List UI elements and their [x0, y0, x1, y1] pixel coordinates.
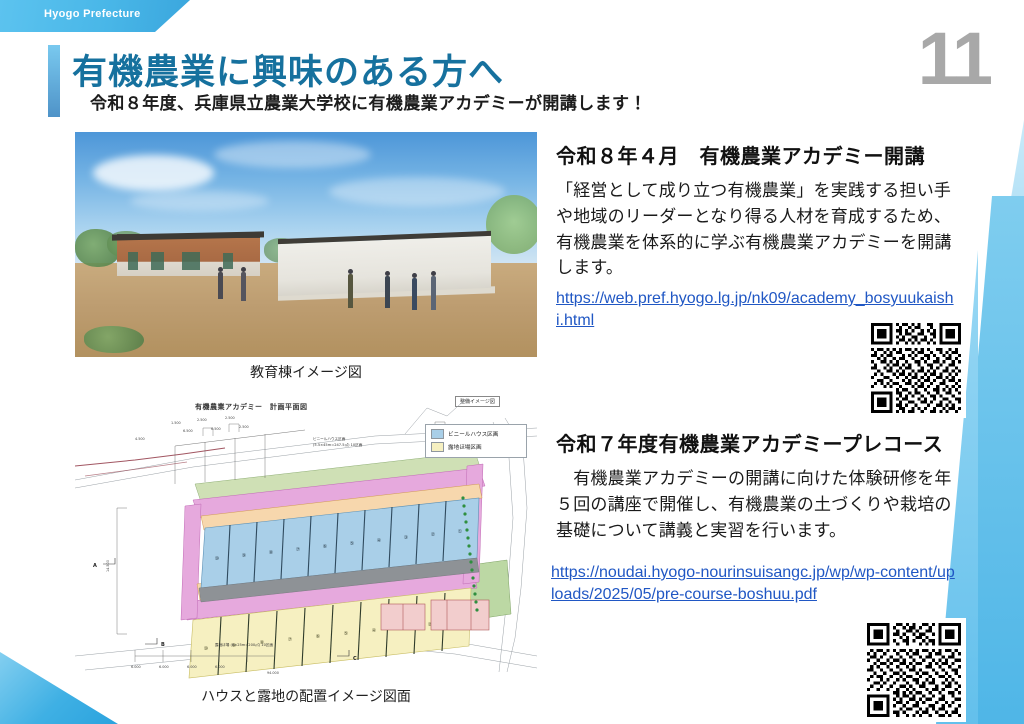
svg-text:B: B	[161, 642, 165, 648]
svg-text:6.000: 6.000	[159, 665, 169, 669]
svg-text:⑤: ⑤	[350, 541, 354, 547]
svg-text:③: ③	[404, 535, 408, 541]
photo-person	[412, 278, 417, 310]
legend-swatch-greenhouse	[431, 429, 444, 439]
svg-text:6.500: 6.500	[183, 429, 193, 433]
svg-text:ビニールハウス区画: ビニールハウス区画	[313, 436, 346, 441]
svg-text:(5.5×45m=247.5㎡) 10区画: (5.5×45m=247.5㎡) 10区画	[313, 442, 363, 447]
svg-text:C: C	[353, 656, 357, 662]
photo-education-building	[117, 234, 260, 276]
photo-cloud	[329, 177, 505, 206]
photo-person	[218, 272, 223, 299]
svg-text:1.500: 1.500	[171, 421, 181, 425]
svg-text:⑧: ⑧	[269, 550, 274, 556]
svg-text:6.000: 6.000	[215, 665, 225, 669]
svg-text:⑨: ⑨	[242, 553, 246, 559]
building-render-photo	[75, 132, 537, 357]
photo-tree	[486, 195, 537, 254]
svg-text:94.000: 94.000	[267, 671, 279, 675]
section1-heading: 令和８年４月 有機農業アカデミー開講	[556, 140, 925, 169]
photo-person	[385, 276, 390, 308]
legend-item-openfield: 露地ほ場区画	[431, 442, 522, 452]
photo-person	[241, 272, 246, 301]
photo-shrub	[84, 326, 144, 353]
photo-cloud	[93, 155, 213, 191]
svg-text:⑥: ⑥	[316, 634, 321, 640]
svg-text:2.500: 2.500	[197, 418, 207, 422]
svg-text:2.500: 2.500	[239, 425, 249, 429]
site-plan-drawing: 有機農業アカデミー 計画平面図 整備イメージ図	[75, 388, 537, 680]
svg-text:2.500: 2.500	[225, 416, 235, 420]
site-plan-legend: ビニールハウス区画 露地ほ場区画	[425, 424, 527, 458]
photo-person	[348, 274, 353, 308]
svg-text:14.500: 14.500	[106, 560, 110, 572]
svg-text:⑤: ⑤	[344, 631, 348, 637]
legend-swatch-openfield	[431, 442, 444, 452]
section2-heading: 令和７年度有機農業アカデミープレコース	[556, 428, 943, 457]
page-subtitle: 令和８年度、兵庫県立農業大学校に有機農業アカデミーが開講します！	[90, 89, 647, 114]
svg-text:⑦: ⑦	[288, 637, 293, 643]
qr-code-precourse-graphic	[867, 623, 961, 717]
photo-person	[431, 276, 436, 310]
page-title: 有機農業に興味のある方へ	[72, 44, 504, 95]
section2-body: 有機農業アカデミーの開講に向けた体験研修を年５回の講座で開催し、有機農業の土づく…	[556, 466, 956, 543]
svg-text:6.000: 6.000	[131, 665, 141, 669]
site-plan-caption: ハウスと露地の配置イメージ図面	[75, 686, 537, 706]
photo-caption: 教育棟イメージ図	[75, 362, 537, 382]
svg-text:6.500: 6.500	[211, 427, 221, 431]
photo-cloud	[130, 191, 269, 211]
section1-body: 「経営として成り立つ有機農業」を実践する担い手や地域のリーダーとなり得る人材を育…	[556, 178, 956, 281]
svg-text:④: ④	[372, 628, 377, 634]
section2-link[interactable]: https://noudai.hyogo-nourinsuisangc.jp/w…	[551, 562, 955, 605]
photo-cloud	[214, 141, 371, 168]
svg-text:A: A	[93, 563, 97, 569]
svg-text:4.500: 4.500	[135, 437, 145, 441]
svg-text:⑩: ⑩	[215, 556, 220, 562]
legend-item-greenhouse: ビニールハウス区画	[431, 429, 522, 439]
qr-code-academy-graphic	[871, 323, 961, 413]
svg-text:⑥: ⑥	[323, 544, 328, 550]
svg-text:露地ほ場 (8×25m=200㎡) 10区画: 露地ほ場 (8×25m=200㎡) 10区画	[215, 642, 273, 647]
legend-label-greenhouse: ビニールハウス区画	[448, 430, 498, 438]
title-accent-bar	[48, 45, 60, 117]
svg-text:①: ①	[458, 529, 463, 535]
poster-page: Hyogo Prefecture 11 有機農業に興味のある方へ 令和８年度、兵…	[0, 0, 1024, 724]
qr-code-academy[interactable]	[866, 318, 966, 418]
svg-text:⑦: ⑦	[296, 547, 301, 553]
legend-label-openfield: 露地ほ場区画	[448, 443, 482, 451]
svg-text:6.000: 6.000	[187, 665, 197, 669]
header-banner-label: Hyogo Prefecture	[44, 8, 141, 20]
svg-text:⑩: ⑩	[204, 646, 209, 652]
qr-code-precourse[interactable]	[862, 618, 966, 722]
page-number: 11	[918, 22, 990, 96]
svg-text:④: ④	[377, 538, 382, 544]
svg-text:②: ②	[431, 532, 436, 538]
